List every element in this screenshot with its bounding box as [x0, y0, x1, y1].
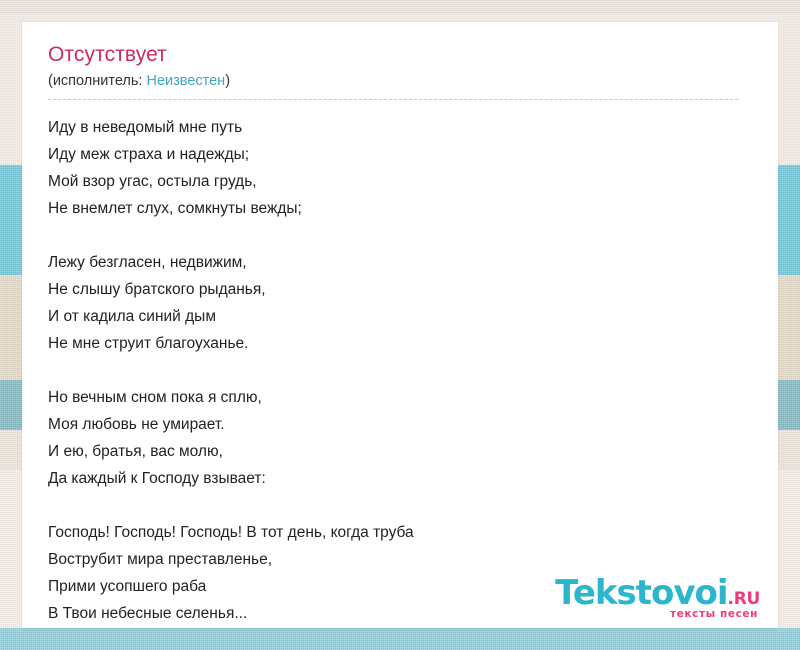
page-title: Отсутствует: [48, 42, 752, 68]
lyrics-line: Да каждый к Господу взывает:: [48, 465, 752, 492]
artist-line: (исполнитель: Неизвестен): [48, 72, 752, 91]
lyrics-line: Иду меж страха и надежды;: [48, 141, 752, 168]
artist-link[interactable]: Неизвестен: [146, 73, 225, 89]
lyrics-line: Вострубит мира преставленье,: [48, 546, 752, 573]
lyrics-line: И от кадила синий дым: [48, 303, 752, 330]
lyrics-body: Иду в неведомый мне путь Иду меж страха …: [48, 114, 752, 627]
lyrics-stanza: Но вечным сном пока я сплю, Моя любовь н…: [48, 384, 752, 492]
artist-paren-close: ): [225, 73, 230, 89]
lyrics-line: Не мне струит благоуханье.: [48, 330, 752, 357]
page-background: Отсутствует (исполнитель: Неизвестен) Ид…: [0, 0, 800, 650]
lyrics-line: И ею, братья, вас молю,: [48, 438, 752, 465]
lyrics-stanza: Иду в неведомый мне путь Иду меж страха …: [48, 114, 752, 222]
card-content: Отсутствует (исполнитель: Неизвестен) Ид…: [22, 22, 778, 627]
logo-wordmark: Tekstovoi.RU: [555, 576, 760, 610]
artist-label: (исполнитель:: [48, 73, 142, 89]
site-logo[interactable]: Tekstovoi.RU тексты песен: [555, 576, 760, 620]
lyrics-line: Но вечным сном пока я сплю,: [48, 384, 752, 411]
lyrics-line: Не слышу братского рыданья,: [48, 276, 752, 303]
lyrics-line: Мой взор угас, остыла грудь,: [48, 168, 752, 195]
logo-name: Tekstovoi: [555, 576, 727, 610]
lyrics-line: Иду в неведомый мне путь: [48, 114, 752, 141]
lyrics-stanza: Лежу безгласен, недвижим, Не слышу братс…: [48, 249, 752, 357]
lyrics-line: Моя любовь не умирает.: [48, 411, 752, 438]
header-divider: [48, 99, 738, 100]
lyrics-line: Не внемлет слух, сомкнуты вежды;: [48, 195, 752, 222]
lyrics-line: Лежу безгласен, недвижим,: [48, 249, 752, 276]
lyrics-card: Отсутствует (исполнитель: Неизвестен) Ид…: [22, 22, 778, 628]
logo-tld: .RU: [728, 589, 760, 609]
lyrics-line: Господь! Господь! Господь! В тот день, к…: [48, 519, 752, 546]
